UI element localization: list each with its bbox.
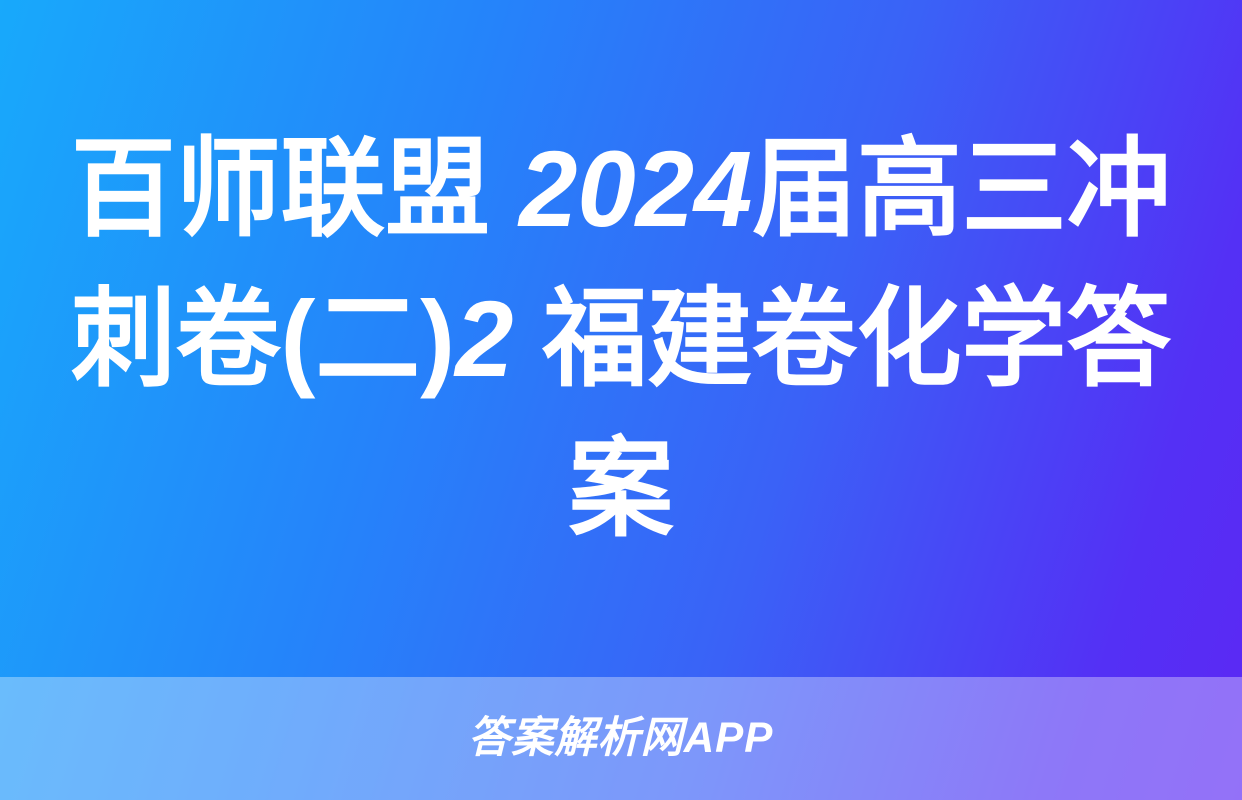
title-line-1-cjk-start: 百师联盟 — [71, 128, 519, 249]
page-title-line-3: 案 — [569, 414, 674, 564]
footer-brand-label: 答案解析网APP — [468, 717, 773, 760]
title-line-2-number: 2 — [455, 278, 513, 399]
share-card: 百师联盟 2024届高三冲 刺卷(二)2 福建卷化学答 案 答案解析网APP — [0, 0, 1242, 800]
title-line-2-cjk-end: 福建卷化学答 — [513, 278, 1171, 399]
page-title-line-2: 刺卷(二)2 福建卷化学答 — [71, 264, 1171, 414]
footer-brand-band: 答案解析网APP — [0, 677, 1242, 800]
page-title-line-1: 百师联盟 2024届高三冲 — [71, 114, 1171, 264]
title-line-1-year: 2024 — [519, 128, 752, 249]
title-line-1-cjk-end: 届高三冲 — [752, 128, 1171, 249]
title-block: 百师联盟 2024届高三冲 刺卷(二)2 福建卷化学答 案 — [0, 0, 1242, 677]
title-line-2-cjk-start: 刺卷(二) — [71, 278, 455, 399]
title-line-3-cjk-end: 案 — [569, 428, 674, 549]
